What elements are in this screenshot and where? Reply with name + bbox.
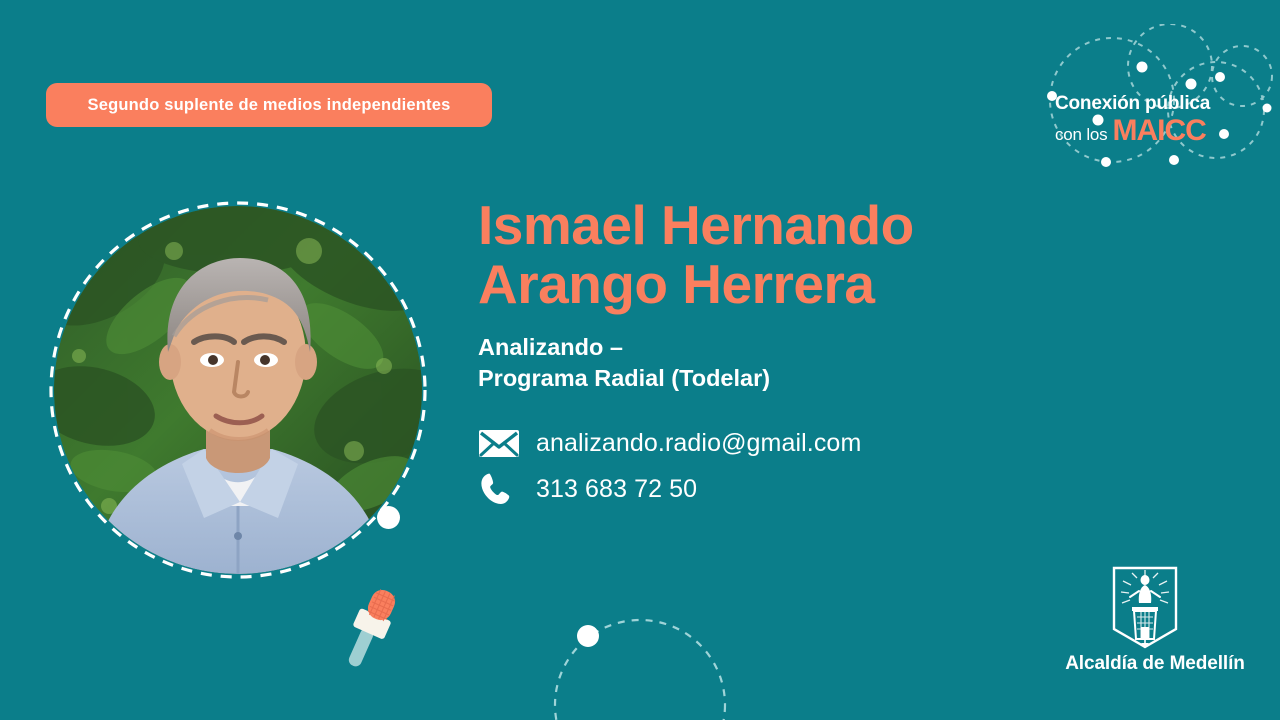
brand-logo-acronym: MAICC	[1112, 114, 1205, 148]
program-line-1: Analizando –	[478, 332, 1098, 363]
speaker-name-line-2: Arango Herrera	[478, 255, 1098, 314]
microphone-icon	[336, 586, 406, 676]
envelope-icon	[478, 426, 524, 460]
institution-logo: Alcaldía de Medellín	[1060, 565, 1250, 680]
speaker-name-line-1: Ismael Hernando	[478, 196, 1098, 255]
brand-logo-line-1: Conexión pública	[1055, 93, 1210, 115]
portrait	[48, 200, 428, 580]
institution-name: Alcaldía de Medellín	[1060, 653, 1250, 675]
brand-logo-prefix: con los	[1055, 125, 1107, 145]
speaker-info: Ismael Hernando Arango Herrera Analizand…	[478, 196, 1098, 512]
brand-logo: Conexión pública con los MAICC	[1020, 24, 1280, 170]
slide-canvas: Segundo suplente de medios independiente…	[0, 0, 1280, 720]
white-dot-decoration	[377, 506, 400, 529]
role-badge: Segundo suplente de medios independiente…	[46, 83, 492, 127]
phone-icon	[478, 472, 524, 506]
contact-phone-row[interactable]: 313 683 72 50	[478, 466, 1098, 512]
program-info: Analizando – Programa Radial (Todelar)	[478, 332, 1098, 395]
phone-text: 313 683 72 50	[536, 475, 697, 504]
contact-info: analizando.radio@gmail.com 313 683 72 50	[478, 420, 1098, 512]
brand-logo-text: Conexión pública con los MAICC	[1020, 24, 1280, 170]
medellin-coat-of-arms-icon	[1110, 565, 1180, 650]
dashed-circle-decoration	[540, 605, 740, 720]
portrait-dashed-ring	[48, 200, 428, 580]
email-text: analizando.radio@gmail.com	[536, 429, 861, 458]
role-badge-label: Segundo suplente de medios independiente…	[88, 96, 451, 115]
brand-logo-line-2: con los MAICC	[1055, 114, 1206, 148]
contact-email-row[interactable]: analizando.radio@gmail.com	[478, 420, 1098, 466]
program-line-2: Programa Radial (Todelar)	[478, 363, 1098, 394]
